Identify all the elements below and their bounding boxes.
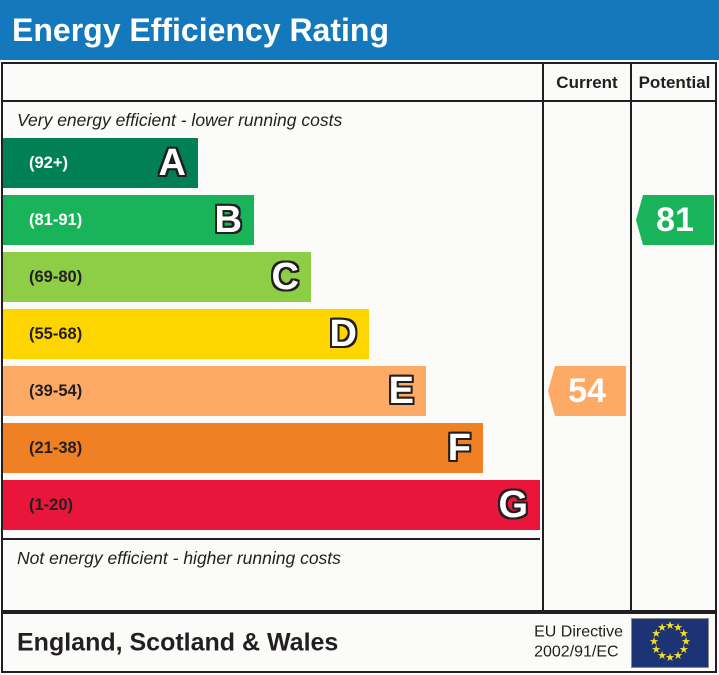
band-range-c: (69-80): [3, 268, 82, 287]
eu-flag-star: ★: [657, 623, 668, 634]
band-letter-e: E: [389, 372, 414, 410]
eu-flag-icon: ★★★★★★★★★★★★: [631, 618, 709, 668]
rating-pointer-current: 54: [548, 366, 626, 416]
band-range-b: (81-91): [3, 211, 82, 230]
band-range-f: (21-38): [3, 439, 82, 458]
column-header-potential: Potential: [632, 64, 717, 102]
band-row-d: (55-68)D: [3, 309, 369, 359]
footer-directive: EU Directive 2002/91/EC: [534, 622, 623, 663]
caption-top: Very energy efficient - lower running co…: [3, 102, 540, 138]
footer-region-label: England, Scotland & Wales: [17, 628, 338, 657]
band-letter-d: D: [330, 315, 357, 353]
chart-title-bar: Energy Efficiency Rating: [0, 0, 719, 60]
certificate-footer: England, Scotland & Wales EU Directive 2…: [1, 612, 717, 673]
rating-table: Current Potential Very energy efficient …: [1, 62, 717, 612]
band-row-a: (92+)A: [3, 138, 198, 188]
band-range-g: (1-20): [3, 496, 73, 515]
page-title: Energy Efficiency Rating: [0, 12, 389, 49]
band-list: (92+)A(81-91)B(69-80)C(55-68)D(39-54)E(2…: [3, 138, 540, 538]
band-range-d: (55-68): [3, 325, 82, 344]
column-header-current: Current: [544, 64, 630, 102]
band-row-b: (81-91)B: [3, 195, 254, 245]
band-letter-b: B: [215, 201, 242, 239]
band-row-g: (1-20)G: [3, 480, 540, 530]
divider-current: [542, 64, 544, 610]
band-letter-c: C: [272, 258, 299, 296]
footer-directive-line2: 2002/91/EC: [534, 643, 623, 663]
band-letter-a: A: [159, 144, 186, 182]
footer-directive-line1: EU Directive: [534, 622, 623, 642]
divider-potential: [630, 64, 632, 610]
rating-pointer-potential: 81: [636, 195, 714, 245]
energy-efficiency-certificate: Energy Efficiency Rating Current Potenti…: [0, 0, 719, 675]
band-row-c: (69-80)C: [3, 252, 311, 302]
band-row-f: (21-38)F: [3, 423, 483, 473]
band-range-e: (39-54): [3, 382, 82, 401]
band-row-e: (39-54)E: [3, 366, 426, 416]
band-letter-f: F: [448, 429, 471, 467]
band-letter-g: G: [498, 486, 528, 524]
caption-bottom: Not energy efficient - higher running co…: [3, 540, 540, 576]
band-range-a: (92+): [3, 154, 68, 173]
